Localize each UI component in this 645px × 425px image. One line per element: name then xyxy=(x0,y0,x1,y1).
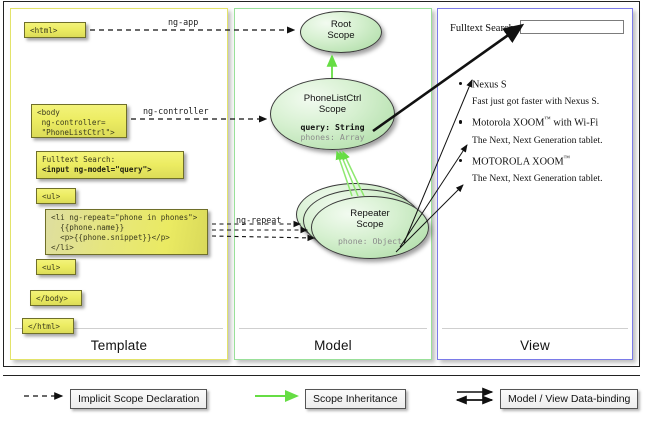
bullet-icon xyxy=(459,120,462,123)
template-box-li-ngrepeat: <li ng-repeat="phone in phones"> {{phone… xyxy=(45,209,208,255)
model-title-divider xyxy=(239,328,427,329)
view-phone-name: Nexus S xyxy=(472,78,631,90)
connector-label-ng-controller: ng-controller xyxy=(143,106,209,116)
template-box-fulltext-search: Fulltext Search: <input ng-model="query"… xyxy=(36,151,184,179)
column-title-template: Template xyxy=(11,338,227,353)
phonelistctrl-prop-phones: phones: Array xyxy=(271,133,394,143)
column-template: Template xyxy=(10,8,228,360)
diagram-root: Template Model View <html> <body ng-cont… xyxy=(0,0,645,425)
fulltext-search-line1: Fulltext Search: xyxy=(42,155,115,164)
legend-label-implicit-scope-declaration: Implicit Scope Declaration xyxy=(70,389,207,409)
view-content: Fulltext Search: Nexus S Fast just got f… xyxy=(437,8,633,360)
view-list-item: Motorola XOOM™ with Wi-Fi The Next, Next… xyxy=(459,116,631,145)
view-phone-name: Motorola XOOM™ with Wi-Fi xyxy=(472,116,631,128)
view-phone-suffix: with Wi-Fi xyxy=(551,118,598,129)
legend-separator-rule xyxy=(3,375,640,376)
legend-label-model-view-data-binding: Model / View Data-binding xyxy=(500,389,638,409)
column-title-model: Model xyxy=(235,338,431,353)
phonelistctrl-scope-title-line2: Scope xyxy=(271,105,394,116)
view-search-label: Fulltext Search: xyxy=(450,23,517,34)
view-phone-snippet: Fast just got faster with Nexus S. xyxy=(472,96,631,107)
template-box-body-controller: <body ng-controller= "PhoneListCtrl"> xyxy=(31,104,127,138)
template-box-html-close: </html> xyxy=(22,318,74,334)
view-phone-snippet: The Next, Next Generation tablet. xyxy=(472,135,631,146)
view-list-item: MOTOROLA XOOM™ The Next, Next Generation… xyxy=(459,155,631,184)
view-phone-name: MOTOROLA XOOM™ xyxy=(472,155,631,167)
repeater-scope-title-line2: Scope xyxy=(312,220,428,231)
view-phone-name-text: Motorola XOOM xyxy=(472,118,544,129)
template-box-body-close: </body> xyxy=(30,290,82,306)
view-phone-name-text: MOTOROLA XOOM xyxy=(472,156,564,167)
bullet-icon xyxy=(459,82,462,85)
view-phone-name-text: Nexus S xyxy=(472,79,507,90)
column-model: Model xyxy=(234,8,432,360)
view-search-input[interactable] xyxy=(520,20,624,34)
fulltext-search-line2: <input ng-model="query"> xyxy=(42,165,152,174)
repeater-prop-phone: phone: Object xyxy=(312,237,428,247)
model-scope-phonelistctrl: PhoneListCtrl Scope query: String phones… xyxy=(270,78,395,150)
connector-label-ng-repeat: ng-repeat xyxy=(236,215,281,225)
template-box-html-open: <html> xyxy=(24,22,86,38)
view-phone-snippet: The Next, Next Generation tablet. xyxy=(472,173,631,184)
legend: Implicit Scope Declaration Scope Inherit… xyxy=(0,380,645,422)
trademark-icon: ™ xyxy=(564,155,570,162)
template-box-ul-close: <ul> xyxy=(36,259,76,275)
root-scope-title-line2: Scope xyxy=(301,31,381,42)
view-phone-list: Nexus S Fast just got faster with Nexus … xyxy=(459,78,631,193)
bullet-icon xyxy=(459,159,462,162)
model-scope-repeater: Repeater Scope phone: Object xyxy=(311,196,429,259)
model-scope-root: Root Scope xyxy=(300,11,382,53)
connector-label-ng-app: ng-app xyxy=(168,17,198,27)
view-list-item: Nexus S Fast just got faster with Nexus … xyxy=(459,78,631,107)
legend-label-scope-inheritance: Scope Inheritance xyxy=(305,389,406,409)
template-box-ul-open: <ul> xyxy=(36,188,76,204)
